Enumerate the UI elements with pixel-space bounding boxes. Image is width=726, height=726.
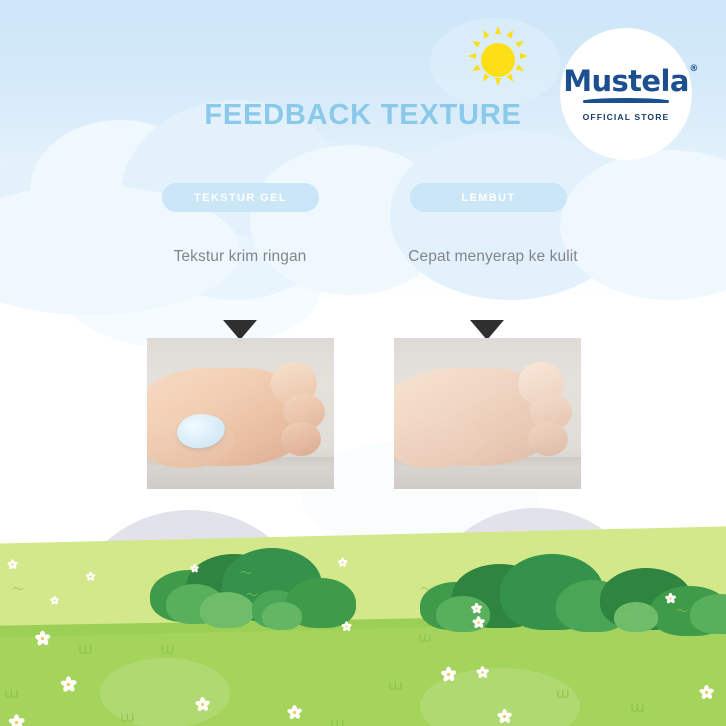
- flower-icon: [472, 604, 482, 614]
- flower-icon: [9, 715, 23, 726]
- grass-tuft: 〜: [618, 606, 630, 623]
- grass-tuft: 〜: [676, 602, 688, 619]
- flower-icon: [473, 617, 484, 628]
- hand-illustration: [394, 360, 574, 472]
- badge-lembut: LEMBUT: [410, 183, 567, 212]
- flower-icon: [666, 594, 676, 604]
- flower-icon: [191, 565, 199, 573]
- triangle-down-icon: [223, 320, 257, 340]
- sun-ray: [468, 53, 476, 59]
- flower-icon: [477, 667, 488, 678]
- sun-icon: [468, 30, 528, 90]
- flower-icon: [8, 560, 17, 569]
- sun-ray: [516, 38, 526, 47]
- flower-icon: [442, 668, 456, 682]
- caption-right: Cepat menyerap ke kulit: [386, 248, 600, 266]
- brand-name-text: Mustela: [563, 64, 689, 98]
- badge-tekstur-gel: TEKSTUR GEL: [162, 183, 319, 212]
- grass-tuft: 〜: [246, 586, 258, 603]
- registered-trademark-icon: ®: [689, 65, 697, 74]
- promo-banner: Mustela ® OFFICIAL STORE FEEDBACK TEXTUR…: [0, 0, 726, 726]
- grass-tuft: ɯ: [556, 686, 570, 702]
- caption-left: Tekstur krim ringan: [140, 248, 340, 266]
- flower-icon: [498, 710, 511, 723]
- grass-tuft: ɯ: [418, 630, 432, 646]
- flower-icon: [86, 572, 94, 580]
- grass-tuft: 〜: [240, 564, 252, 581]
- sun-ray: [471, 38, 481, 47]
- grass-tuft: 〜: [420, 580, 432, 597]
- sun-ray: [495, 26, 501, 34]
- grass-tuft: ɯ: [120, 708, 135, 726]
- sun-ray: [471, 64, 481, 73]
- sun-ray: [495, 78, 501, 86]
- landscape-scene: 〜 ɯ ɯ ɯ ɯ 〜 〜 〜 ɯ ɯ ɯ 〜 〜 ɯ ɯ: [0, 498, 726, 726]
- flower-icon: [61, 677, 75, 691]
- grass-tuft: ɯ: [630, 698, 645, 716]
- bush-shape: [262, 602, 302, 630]
- triangle-down-icon: [470, 320, 504, 340]
- flower-icon: [338, 558, 346, 566]
- flower-icon: [288, 706, 301, 719]
- sun-ray: [516, 64, 526, 73]
- photo-hand-absorbed: [394, 338, 581, 489]
- hand-knuckle: [528, 422, 568, 456]
- flower-icon: [700, 686, 713, 699]
- hand-illustration: [147, 360, 327, 472]
- page-title: FEEDBACK TEXTURE: [0, 99, 726, 132]
- sun-core: [481, 43, 515, 77]
- flower-icon: [196, 698, 209, 711]
- brand-name: Mustela ®: [563, 67, 689, 96]
- photo-hand-with-gel: [147, 338, 334, 489]
- sun-ray: [506, 29, 515, 39]
- sun-ray: [480, 29, 489, 39]
- sun-ray: [520, 53, 528, 59]
- grass-tuft: ɯ: [4, 684, 19, 702]
- grass-tuft: ɯ: [160, 640, 175, 658]
- hand-knuckle: [281, 422, 321, 456]
- flower-icon: [51, 597, 59, 605]
- brand-logo: Mustela ® OFFICIAL STORE: [560, 28, 692, 160]
- grass-tuft: ɯ: [78, 640, 93, 658]
- flower-icon: [342, 622, 351, 631]
- sun-ray: [480, 74, 489, 84]
- sun-ray: [506, 74, 515, 84]
- flower-icon: [36, 632, 50, 646]
- grass-tuft: ɯ: [388, 676, 403, 694]
- grass-tuft: 〜: [12, 580, 24, 597]
- grass-tuft: ɯ: [330, 714, 345, 726]
